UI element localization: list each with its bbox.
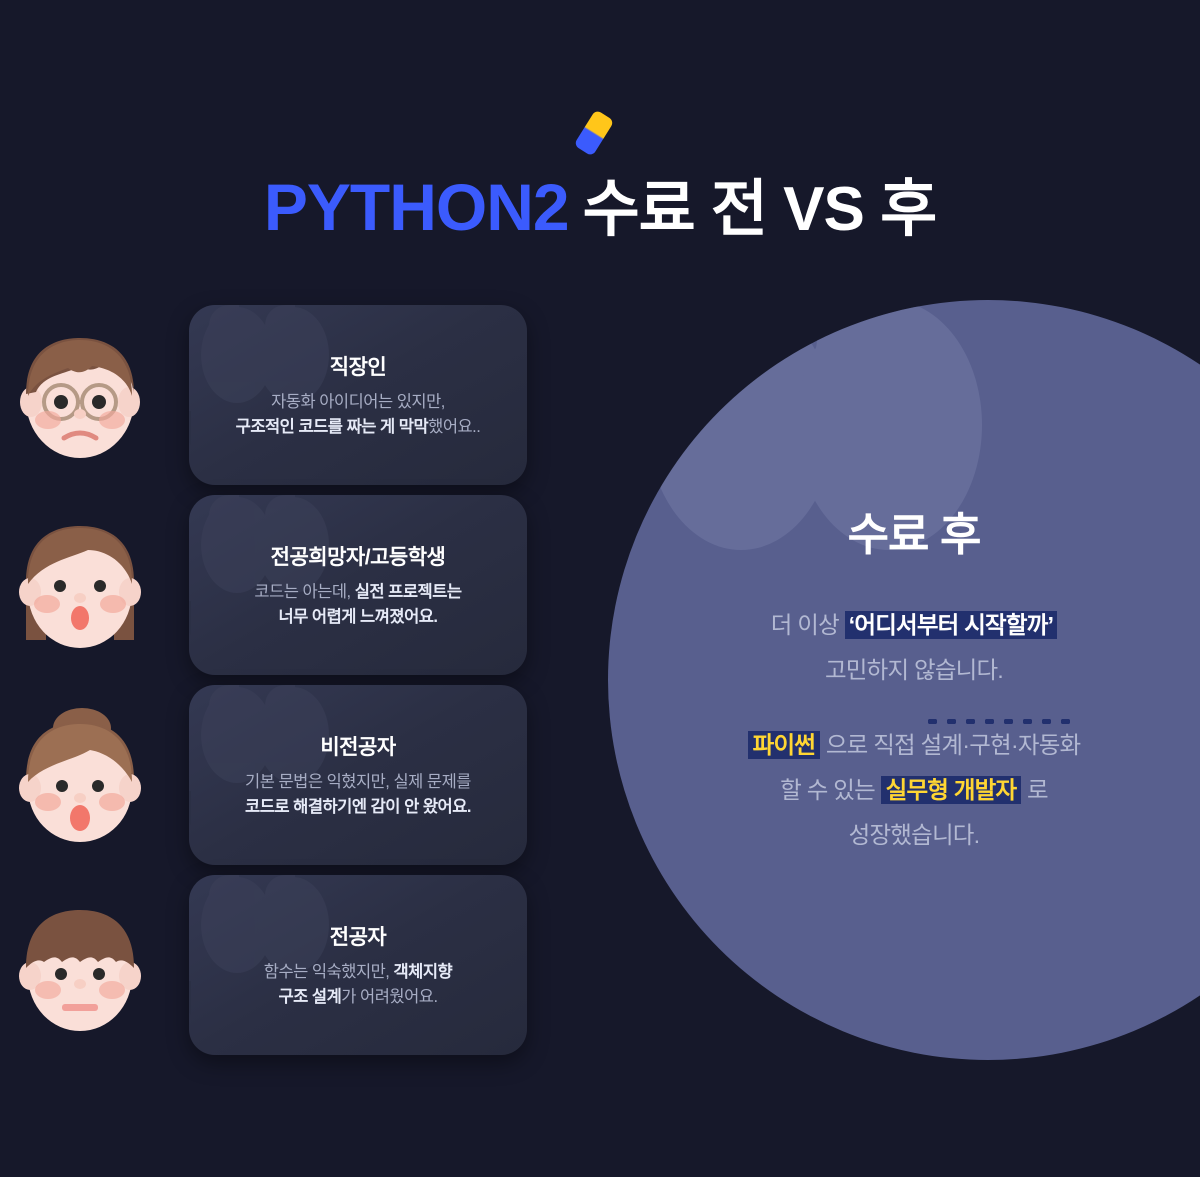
bubble-line-2: 너무 어렵게 느껴졌어요. bbox=[211, 605, 505, 630]
speech-bubble-non-major: 비전공자 기본 문법은 익혔지만, 실제 문제를 코드로 해결하기엔 감이 안 … bbox=[189, 685, 527, 865]
avatar-boy-short-hair-neutral bbox=[4, 892, 156, 1044]
bubble-line-1: 기본 문법은 익혔지만, 실제 문제를 bbox=[211, 770, 505, 795]
bubble-text-bold: 실전 프로젝트는 bbox=[355, 583, 462, 601]
highlight-question: ‘어디서부터 시작할까’ bbox=[845, 611, 1058, 639]
bubble-name: 전공희망자/고등학생 bbox=[211, 541, 505, 571]
bubble-name: 직장인 bbox=[211, 351, 505, 381]
highlight-developer: 실무형 개발자 bbox=[881, 776, 1022, 804]
bubble-name: 비전공자 bbox=[211, 731, 505, 761]
bubble-text: 코드는 아는데, bbox=[254, 583, 354, 601]
highlight-python: 파이썬 bbox=[748, 731, 820, 759]
after-paragraph-1: 더 이상 ‘어디서부터 시작할까’ 고민하지 않습니다. bbox=[628, 603, 1200, 693]
speech-bubble-office-worker: 직장인 자동화 아이디어는 있지만, 구조적인 코드를 짜는 게 막막했어요.. bbox=[189, 305, 527, 485]
bubble-text: 가 어려웠어요. bbox=[341, 988, 437, 1006]
bubble-text-bold: 객체지향 bbox=[393, 963, 452, 981]
bubble-text-bold: 너무 어렵게 느껴졌어요. bbox=[278, 608, 437, 626]
after-text: 할 수 있는 bbox=[780, 777, 880, 803]
speech-bubble-major: 전공자 함수는 익숙했지만, 객체지향 구조 설계가 어려웠어요. bbox=[189, 875, 527, 1055]
bubble-text-bold: 코드로 해결하기엔 감이 안 왔어요. bbox=[245, 798, 471, 816]
bubble-name: 전공자 bbox=[211, 921, 505, 951]
after-text: 으로 직접 bbox=[820, 732, 920, 758]
bubble-text: 했어요.. bbox=[428, 418, 480, 436]
bubble-line-1: 함수는 익숙했지만, 객체지향 bbox=[211, 960, 505, 985]
bubble-line-2: 코드로 해결하기엔 감이 안 왔어요. bbox=[211, 795, 505, 820]
bubble-text: 기본 문법은 익혔지만, 실제 문제를 bbox=[245, 773, 471, 791]
avatar-student-long-hair-surprised bbox=[4, 512, 156, 664]
after-paragraph-2: 파이썬 으로 직접 설계·구현·자동화 할 수 있는 실무형 개발자 로 성장했… bbox=[628, 723, 1200, 858]
pencil-icon bbox=[574, 109, 615, 156]
bubble-line-1: 자동화 아이디어는 있지만, bbox=[211, 390, 505, 415]
speech-bubble-prospective-student: 전공희망자/고등학생 코드는 아는데, 실전 프로젝트는 너무 어렵게 느껴졌어… bbox=[189, 495, 527, 675]
after-text: 더 이상 bbox=[771, 612, 845, 638]
after-text: 로 bbox=[1021, 777, 1048, 803]
after-text: 고민하지 않습니다. bbox=[825, 657, 1003, 683]
avatar-woman-bun-surprised bbox=[4, 702, 156, 854]
avatar-office-worker-glasses-frown bbox=[4, 322, 156, 474]
bubble-line-2: 구조적인 코드를 짜는 게 막막했어요.. bbox=[211, 415, 505, 440]
dotted-emphasis-text: 설계·구현·자동화 bbox=[921, 730, 1081, 758]
bubble-text: 자동화 아이디어는 있지만, bbox=[271, 393, 445, 411]
bubble-line-1: 코드는 아는데, 실전 프로젝트는 bbox=[211, 580, 505, 605]
title-rest: 수료 전 VS 후 bbox=[583, 175, 937, 244]
bubble-text-bold: 구조적인 코드를 짜는 게 막막 bbox=[236, 418, 429, 436]
after-panel-content: 수료 후 더 이상 ‘어디서부터 시작할까’ 고민하지 않습니다. 파이썬 으로… bbox=[628, 498, 1200, 859]
infographic-canvas: PYTHON2수료 전 VS 후 bbox=[0, 0, 1200, 1177]
bubble-line-2: 구조 설계가 어려웠어요. bbox=[211, 985, 505, 1010]
title-brand: PYTHON2 bbox=[264, 170, 569, 244]
page-title: PYTHON2수료 전 VS 후 bbox=[0, 158, 1200, 248]
after-text: 성장했습니다. bbox=[849, 822, 980, 848]
bubble-text-bold: 구조 설계 bbox=[278, 988, 341, 1006]
bubble-text: 함수는 익숙했지만, bbox=[264, 963, 394, 981]
after-title: 수료 후 bbox=[628, 498, 1200, 563]
